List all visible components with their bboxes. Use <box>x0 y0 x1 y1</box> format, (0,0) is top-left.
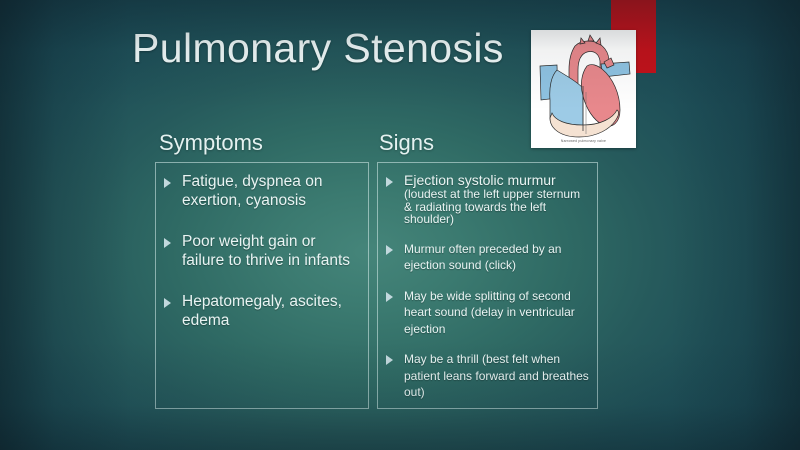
list-item-lead: May be a thrill (best felt when patient … <box>404 352 589 399</box>
list-item: Hepatomegaly, ascites, edema <box>164 292 360 330</box>
list-item-text: May be a thrill (best felt when patient … <box>404 350 589 400</box>
page-title: Pulmonary Stenosis <box>132 25 504 72</box>
column-heading-signs: Signs <box>379 130 434 156</box>
list-item-sub: (loudest at the left upper sternum & rad… <box>404 188 589 226</box>
list-item: May be a thrill (best felt when patient … <box>386 350 589 400</box>
bullet-triangle-icon <box>386 292 393 302</box>
list-item-lead: May be wide splitting of second heart so… <box>404 289 575 336</box>
list-item: Ejection systolic murmur (loudest at the… <box>386 172 589 226</box>
bullet-triangle-icon <box>386 355 393 365</box>
signs-box: Ejection systolic murmur (loudest at the… <box>377 162 598 409</box>
bullet-triangle-icon <box>386 177 393 187</box>
bullet-triangle-icon <box>164 298 171 308</box>
slide-canvas: Pulmonary Stenosis <box>0 0 800 450</box>
column-heading-symptoms: Symptoms <box>159 130 263 156</box>
list-item-text: Hepatomegaly, ascites, edema <box>182 292 360 330</box>
list-item-text: Ejection systolic murmur (loudest at the… <box>404 172 589 226</box>
list-item-text: Murmur often preceded by an ejection sou… <box>404 240 589 273</box>
list-item-text: May be wide splitting of second heart so… <box>404 287 589 337</box>
list-item: Poor weight gain or failure to thrive in… <box>164 232 360 270</box>
bullet-triangle-icon <box>164 178 171 188</box>
list-item: Murmur often preceded by an ejection sou… <box>386 240 589 273</box>
heart-diagram-svg <box>531 30 636 148</box>
symptoms-box: Fatigue, dyspnea on exertion, cyanosis P… <box>155 162 369 409</box>
bullet-triangle-icon <box>386 245 393 255</box>
bullet-triangle-icon <box>164 238 171 248</box>
figure-caption: Narrowed pulmonary valve <box>531 139 636 143</box>
list-item-lead: Murmur often preceded by an ejection sou… <box>404 242 561 273</box>
list-item-lead: Ejection systolic murmur <box>404 172 556 188</box>
heart-anatomy-image: Narrowed pulmonary valve <box>531 30 636 148</box>
list-item: Fatigue, dyspnea on exertion, cyanosis <box>164 172 360 210</box>
list-item: May be wide splitting of second heart so… <box>386 287 589 337</box>
list-item-text: Poor weight gain or failure to thrive in… <box>182 232 360 270</box>
list-item-text: Fatigue, dyspnea on exertion, cyanosis <box>182 172 360 210</box>
